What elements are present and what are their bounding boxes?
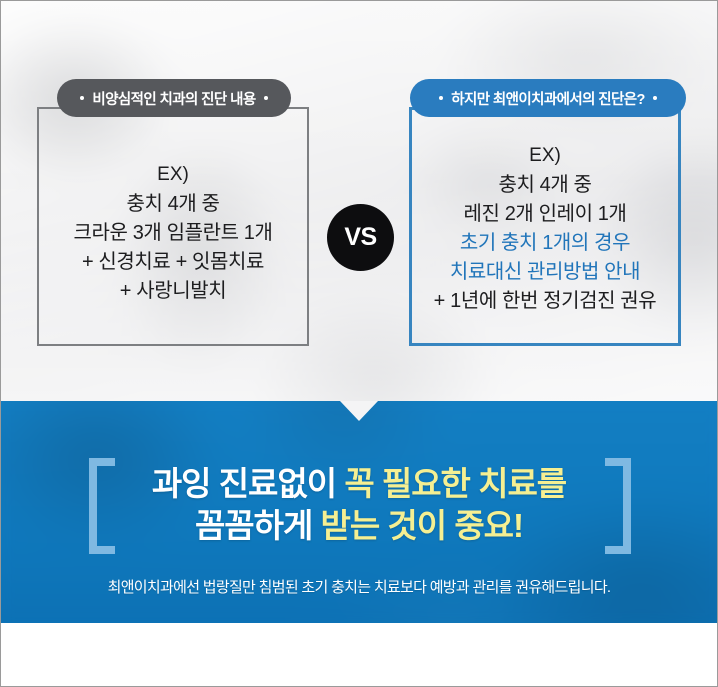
comparison-section: EX) 충치 4개 중 크라운 3개 임플란트 1개 + 신경치료 + 잇몸치료… bbox=[1, 1, 718, 403]
infographic-page: EX) 충치 4개 중 크라운 3개 임플란트 1개 + 신경치료 + 잇몸치료… bbox=[0, 0, 718, 687]
right-line-2: 충치 4개 중 bbox=[498, 171, 591, 199]
badge-unethical-diagnosis: 비양심적인 치과의 진단 내용 bbox=[57, 79, 291, 117]
bullet-dot-icon bbox=[653, 96, 657, 100]
panel-left-body: EX) 충치 4개 중 크라운 3개 임플란트 1개 + 신경치료 + 잇몸치료… bbox=[39, 109, 307, 344]
right-line-6: + 1년에 한번 정기검진 권유 bbox=[434, 287, 657, 315]
bullet-dot-icon bbox=[80, 96, 84, 100]
banner-notch-triangle-icon bbox=[340, 401, 378, 421]
right-line-3: 레진 2개 인레이 1개 bbox=[464, 200, 627, 228]
panel-choiandlee-diagnosis: EX) 충치 4개 중 레진 2개 인레이 1개 초기 충치 1개의 경우 치료… bbox=[409, 107, 681, 346]
headline-line-1: 과잉 진료없이 꼭 필요한 치료를 bbox=[1, 463, 717, 505]
right-line-5: 치료대신 관리방법 안내 bbox=[450, 258, 640, 286]
badge-left-label: 비양심적인 치과의 진단 내용 bbox=[92, 88, 255, 109]
badge-choiandlee-diagnosis: 하지만 최앤이치과에서의 진단은? bbox=[410, 79, 686, 117]
left-line-1: EX) bbox=[157, 161, 189, 189]
headline-line1-plain: 과잉 진료없이 bbox=[152, 465, 345, 502]
left-line-4: + 신경치료 + 잇몸치료 bbox=[82, 248, 264, 276]
headline-line-2: 꼼꼼하게 받는 것이 중요! bbox=[1, 505, 717, 547]
headline-line1-highlight: 꼭 필요한 치료를 bbox=[344, 465, 566, 502]
headline-line2-highlight: 받는 것이 중요! bbox=[321, 507, 524, 544]
banner-headline: 과잉 진료없이 꼭 필요한 치료를 꼼꼼하게 받는 것이 중요! bbox=[1, 463, 717, 547]
right-line-1: EX) bbox=[529, 142, 561, 170]
right-line-4: 초기 충치 1개의 경우 bbox=[460, 229, 630, 257]
vs-badge: VS bbox=[327, 204, 394, 271]
badge-right-label: 하지만 최앤이치과에서의 진단은? bbox=[451, 88, 644, 109]
left-line-3: 크라운 3개 임플란트 1개 bbox=[74, 219, 273, 247]
headline-line2-plain: 꼼꼼하게 bbox=[195, 507, 321, 544]
left-line-2: 충치 4개 중 bbox=[126, 190, 219, 218]
panel-unethical-diagnosis: EX) 충치 4개 중 크라운 3개 임플란트 1개 + 신경치료 + 잇몸치료… bbox=[37, 107, 309, 346]
left-line-5: + 사랑니발치 bbox=[120, 277, 226, 305]
vs-label: VS bbox=[344, 223, 376, 252]
banner-subtitle: 최앤이치과에선 법랑질만 침범된 초기 충치는 치료보다 예방과 관리를 권유해… bbox=[1, 577, 717, 599]
bullet-dot-icon bbox=[264, 96, 268, 100]
bullet-dot-icon bbox=[439, 96, 443, 100]
bottom-white-strip bbox=[1, 623, 718, 686]
panel-right-body: EX) 충치 4개 중 레진 2개 인레이 1개 초기 충치 1개의 경우 치료… bbox=[412, 110, 678, 343]
